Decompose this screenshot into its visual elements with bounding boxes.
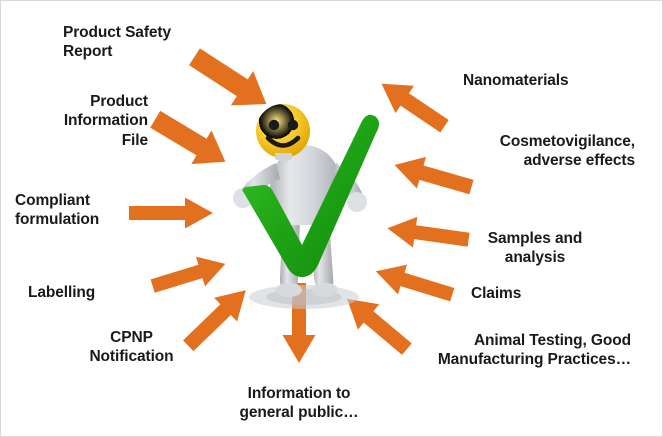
label-information-to-general-public: Information to general public… (223, 384, 375, 423)
arrow-compliant-formulation (129, 197, 213, 229)
diagram-canvas: Product Safety Report Product Informatio… (0, 0, 663, 437)
arrow-product-information-file (144, 102, 236, 180)
label-samples-and-analysis: Samples and analysis (471, 229, 599, 268)
center-figure (226, 101, 386, 316)
label-nanomaterials: Nanomaterials (463, 71, 643, 90)
label-claims: Claims (471, 284, 581, 303)
arrow-samples-and-analysis (385, 212, 471, 255)
label-cpnp-notification: CPNP Notification (79, 328, 184, 367)
label-compliant-formulation: Compliant formulation (15, 191, 145, 230)
label-labelling: Labelling (28, 283, 148, 302)
label-product-information-file: Product Information File (33, 92, 148, 150)
label-animal-testing-gmp: Animal Testing, Good Manufacturing Pract… (386, 331, 631, 370)
